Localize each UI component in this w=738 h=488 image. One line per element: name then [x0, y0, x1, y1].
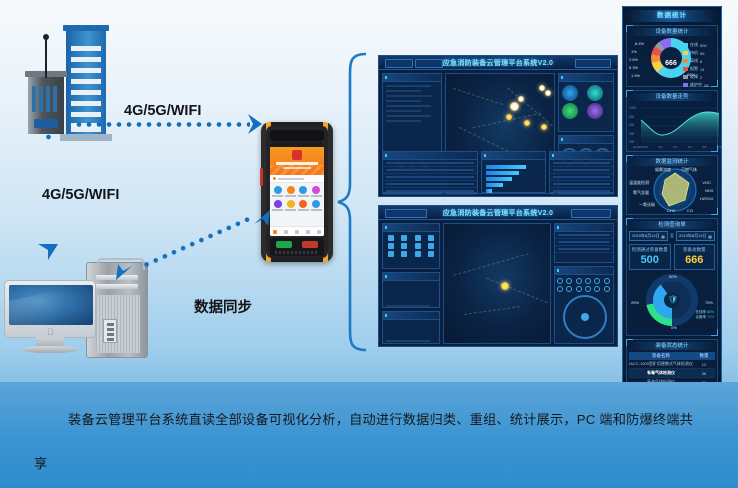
gauge-bottom-label: 0% [671, 325, 677, 330]
equipment-stat-panel[interactable] [558, 73, 614, 132]
device-trend-title: 设备数量走势 [629, 93, 715, 101]
infographic-canvas:  [0, 0, 738, 488]
list-item [555, 239, 613, 246]
alarm-list-panel[interactable] [549, 151, 614, 193]
date-separator: 至 [670, 233, 674, 239]
equipment-table[interactable] [383, 160, 477, 195]
history-panel[interactable] [382, 311, 440, 344]
radar-tick-3: CO [687, 208, 693, 213]
app-icon-grid[interactable] [270, 183, 324, 214]
dashboard-top-screen[interactable]: 应急消防装备云管理平台系统V2.0 [378, 55, 618, 197]
table-row: 有毒气体检测仪 36 [629, 369, 715, 378]
donut-pct-4: 1.9% [631, 73, 640, 78]
shield-icon: 🛡 [668, 295, 678, 304]
label-downlink: 4G/5G/WIFI [42, 187, 119, 203]
donut-pct-1: 1% [631, 49, 637, 54]
status-table-title: 装备状态统计 [629, 342, 715, 350]
date-range-row[interactable]: 2019年8月14日 ▦ 至 2019年8月14日 ▦ [629, 231, 715, 241]
tools-panel[interactable] [382, 223, 440, 269]
kpi-passed-count: 检测通过装备数量 500 [629, 244, 671, 270]
data-monitor-card[interactable]: 数据监测统计 烟雾浓度 可燃气体 温湿度检测 氧气含量 一氧化碳 VOC NH3… [626, 155, 718, 215]
map-marker[interactable] [501, 282, 509, 290]
inspection-query-title: 检测查询单 [629, 221, 715, 229]
online-device-list-panel[interactable] [554, 223, 614, 263]
skyscraper-shape [66, 30, 106, 135]
list-item [550, 181, 613, 188]
kpi-row: 检测通过装备数量 500 装备总数量 666 [629, 244, 715, 270]
curly-brace-connector [336, 52, 368, 352]
donut-pct-3: 6.3% [629, 65, 638, 70]
phone-side-button[interactable] [260, 168, 263, 186]
list-item [550, 188, 613, 195]
track-query-panel[interactable] [382, 272, 440, 308]
radar-axis-5: 一氧化碳 [639, 202, 655, 208]
right-dashboard-title: 数据统计 [626, 10, 718, 22]
table-row [383, 188, 477, 195]
phone-screen[interactable] [270, 142, 324, 236]
legend-item: 故障2 [683, 74, 713, 80]
device-trend-card[interactable]: 设备数量走势 [626, 90, 718, 152]
radar-axis-4: 氧气含量 [633, 190, 649, 196]
table-header-row: 装备名称 数量 [629, 352, 715, 360]
donut-pct-2: 2.6% [629, 57, 638, 62]
end-key[interactable] [302, 241, 318, 248]
y-axis-ticks: 1000 800 600 400 200 [629, 104, 636, 147]
alarm-table[interactable] [550, 160, 613, 195]
gauge-left-label: 25% [631, 300, 639, 305]
device-count-title: 设备数量统计 [629, 28, 715, 36]
arrowhead-down-icon [36, 242, 60, 264]
legend-item: 维护中26 [683, 82, 713, 88]
antenna-icon [45, 38, 47, 78]
date-from-input[interactable]: 2019年8月14日 ▦ [629, 231, 668, 241]
date-to-input[interactable]: 2019年8月14日 ▦ [676, 231, 715, 241]
legend-item: 在线500 [683, 42, 713, 48]
gauge-legend: 在线率 80% 合格率 72% [696, 310, 715, 320]
donut-pct-0: 8.4% [635, 41, 644, 46]
realtime-map-panel[interactable] [443, 223, 551, 344]
radar-tick-2: H2SO4 [700, 196, 713, 201]
table-row: IACC-1000型矿用便携式气体检测仪 12 [629, 360, 715, 369]
list-item [550, 167, 613, 174]
radar-tick-4: CH4 [667, 208, 675, 213]
caption-text: 装备云管理平台系统直读全部设备可视化分析，自动进行数据归类、重组、统计展示，PC… [34, 398, 706, 488]
phone-keypad[interactable] [270, 238, 324, 256]
user-menu[interactable] [575, 59, 611, 68]
calendar-icon[interactable]: ▦ [661, 234, 665, 239]
arrow-building-to-phone [74, 122, 250, 127]
arrowhead-downleft-icon [114, 262, 136, 284]
radar-axis-1: 可燃气体 [681, 167, 697, 173]
radar-tick-1: NH3 [705, 188, 713, 193]
col-count: 数量 [693, 352, 715, 360]
remote-control-panel[interactable] [554, 266, 614, 344]
x-axis-ticks: 2019/06/01 2/1 3/1 4/1 5/1 6/1 [633, 145, 721, 149]
rugged-handheld-terminal[interactable] [261, 122, 333, 262]
label-data-sync: 数据同步 [194, 296, 252, 317]
dashboard-top-header: 应急消防装备云管理平台系统V2.0 [379, 56, 617, 70]
app-tab-bar[interactable] [270, 226, 324, 236]
radar-tick-0: VOC [702, 180, 711, 185]
rate-gauge: 🛡 [646, 274, 698, 326]
table-row [383, 174, 477, 181]
col-name: 装备名称 [629, 352, 693, 360]
arrowhead-upright-icon [250, 208, 272, 230]
imac-monitor-shape:  [4, 280, 96, 350]
arrow-pc-phone-sync [141, 215, 253, 268]
table-row [383, 181, 477, 188]
toolbar-right[interactable] [571, 209, 611, 218]
calendar-icon[interactable]: ▦ [708, 234, 712, 239]
table-row [383, 167, 477, 174]
legend-item: 待机56 [683, 50, 713, 56]
device-trend-chart: 1000 800 600 400 200 2019/06/01 2/1 3/1 … [629, 102, 715, 148]
gauge-top-label: 50% [669, 274, 677, 279]
low-building-shape [28, 76, 64, 134]
caption-line-1: 装备云管理平台系统直读全部设备可视化分析，自动进行数据归类、重组、统计展示，PC… [34, 398, 706, 486]
call-key[interactable] [276, 241, 292, 248]
data-monitor-title: 数据监测统计 [629, 158, 715, 166]
dpad-control[interactable] [563, 295, 607, 339]
equipment-table-panel[interactable] [382, 151, 478, 193]
arrowhead-right-icon [246, 112, 266, 136]
right-statistics-dashboard[interactable]: 数据统计 设备数量统计 666 8.4% 1% 2.6% 6.3% 1.9% 6… [622, 6, 722, 384]
equipment-bar-panel[interactable] [481, 151, 546, 193]
label-uplink: 4G/5G/WIFI [124, 103, 201, 119]
phone-earpiece [270, 130, 324, 141]
list-item [555, 246, 613, 253]
gauge-right-label: 75% [705, 300, 713, 305]
dashboard-bottom-header: 应急消防装备云管理平台系统V2.0 [379, 206, 617, 220]
dashboard-bottom-screen[interactable]: 应急消防装备云管理平台系统V2.0 [378, 205, 618, 347]
app-hero-banner [270, 147, 324, 175]
inspection-query-card[interactable]: 检测查询单 2019年8月14日 ▦ 至 2019年8月14日 ▦ 检测通过装备… [626, 218, 718, 336]
app-search-bar[interactable] [270, 175, 324, 183]
device-count-card[interactable]: 设备数量统计 666 8.4% 1% 2.6% 6.3% 1.9% 66% 在线… [626, 25, 718, 87]
apple-logo-icon:  [47, 328, 55, 337]
kpi-total-count: 装备总数量 666 [674, 244, 716, 270]
donut-center-value: 666 [651, 60, 691, 67]
radar-axis-0: 烟雾浓度 [655, 167, 671, 173]
radar-axis-3: 温湿度检测 [629, 180, 649, 186]
list-item [550, 174, 613, 181]
